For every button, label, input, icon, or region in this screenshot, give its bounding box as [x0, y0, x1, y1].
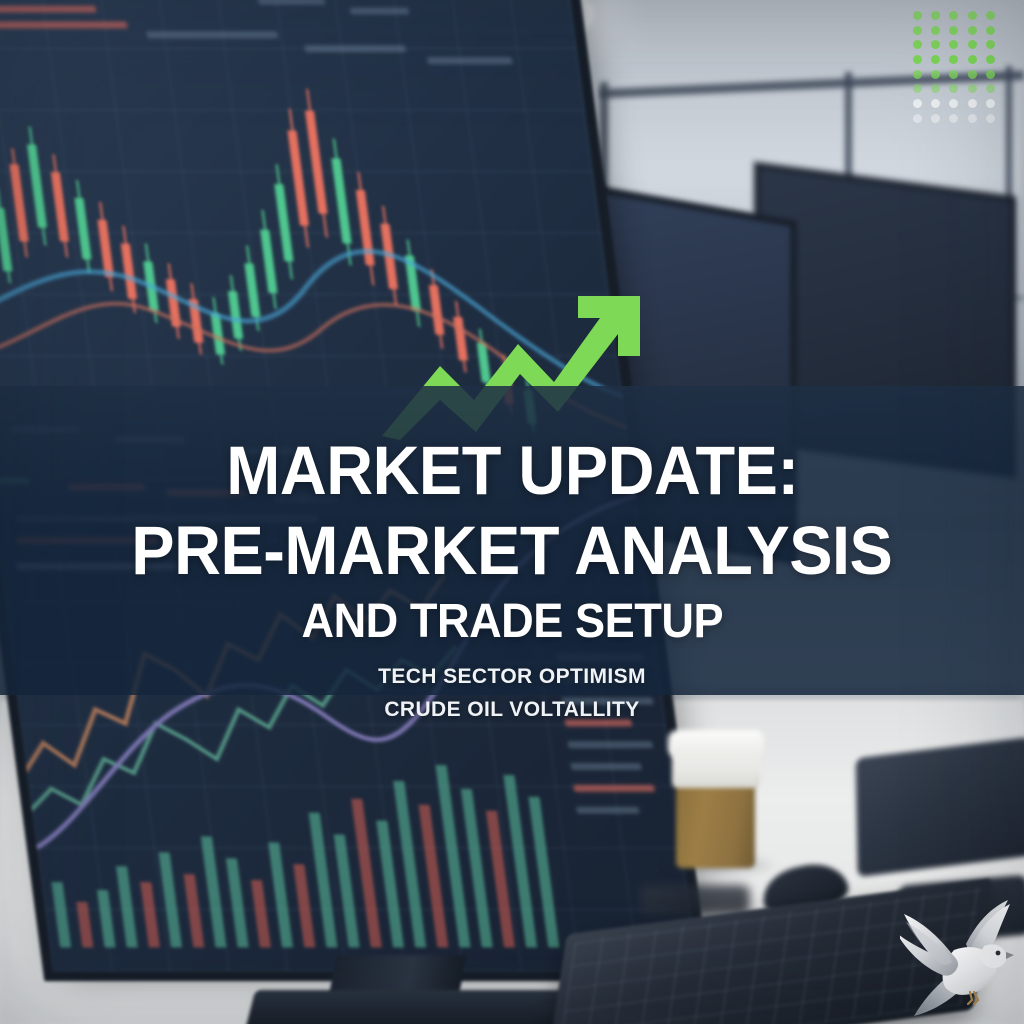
subheadline-line-2: CRUDE OIL VOLTALLITY [384, 698, 639, 722]
headline-line-2: PRE-MARKET ANALYSIS [131, 516, 892, 585]
notebook [856, 737, 1024, 877]
headline-line-1: MARKET UPDATE: [226, 436, 798, 505]
dove-icon [900, 894, 1018, 1022]
coffee-cup-lid [668, 730, 764, 758]
market-update-graphic: MARKET UPDATE: PRE-MARKET ANALYSIS AND T… [0, 0, 1024, 1024]
desk-object-far [640, 885, 750, 915]
headline-line-3: AND TRADE SETUP [301, 598, 723, 646]
subheadline-line-1: TECH SECTOR OPTIMISM [378, 665, 646, 689]
dot-grid-icon [908, 8, 1000, 126]
headline-overlay-band: MARKET UPDATE: PRE-MARKET ANALYSIS AND T… [0, 386, 1024, 695]
